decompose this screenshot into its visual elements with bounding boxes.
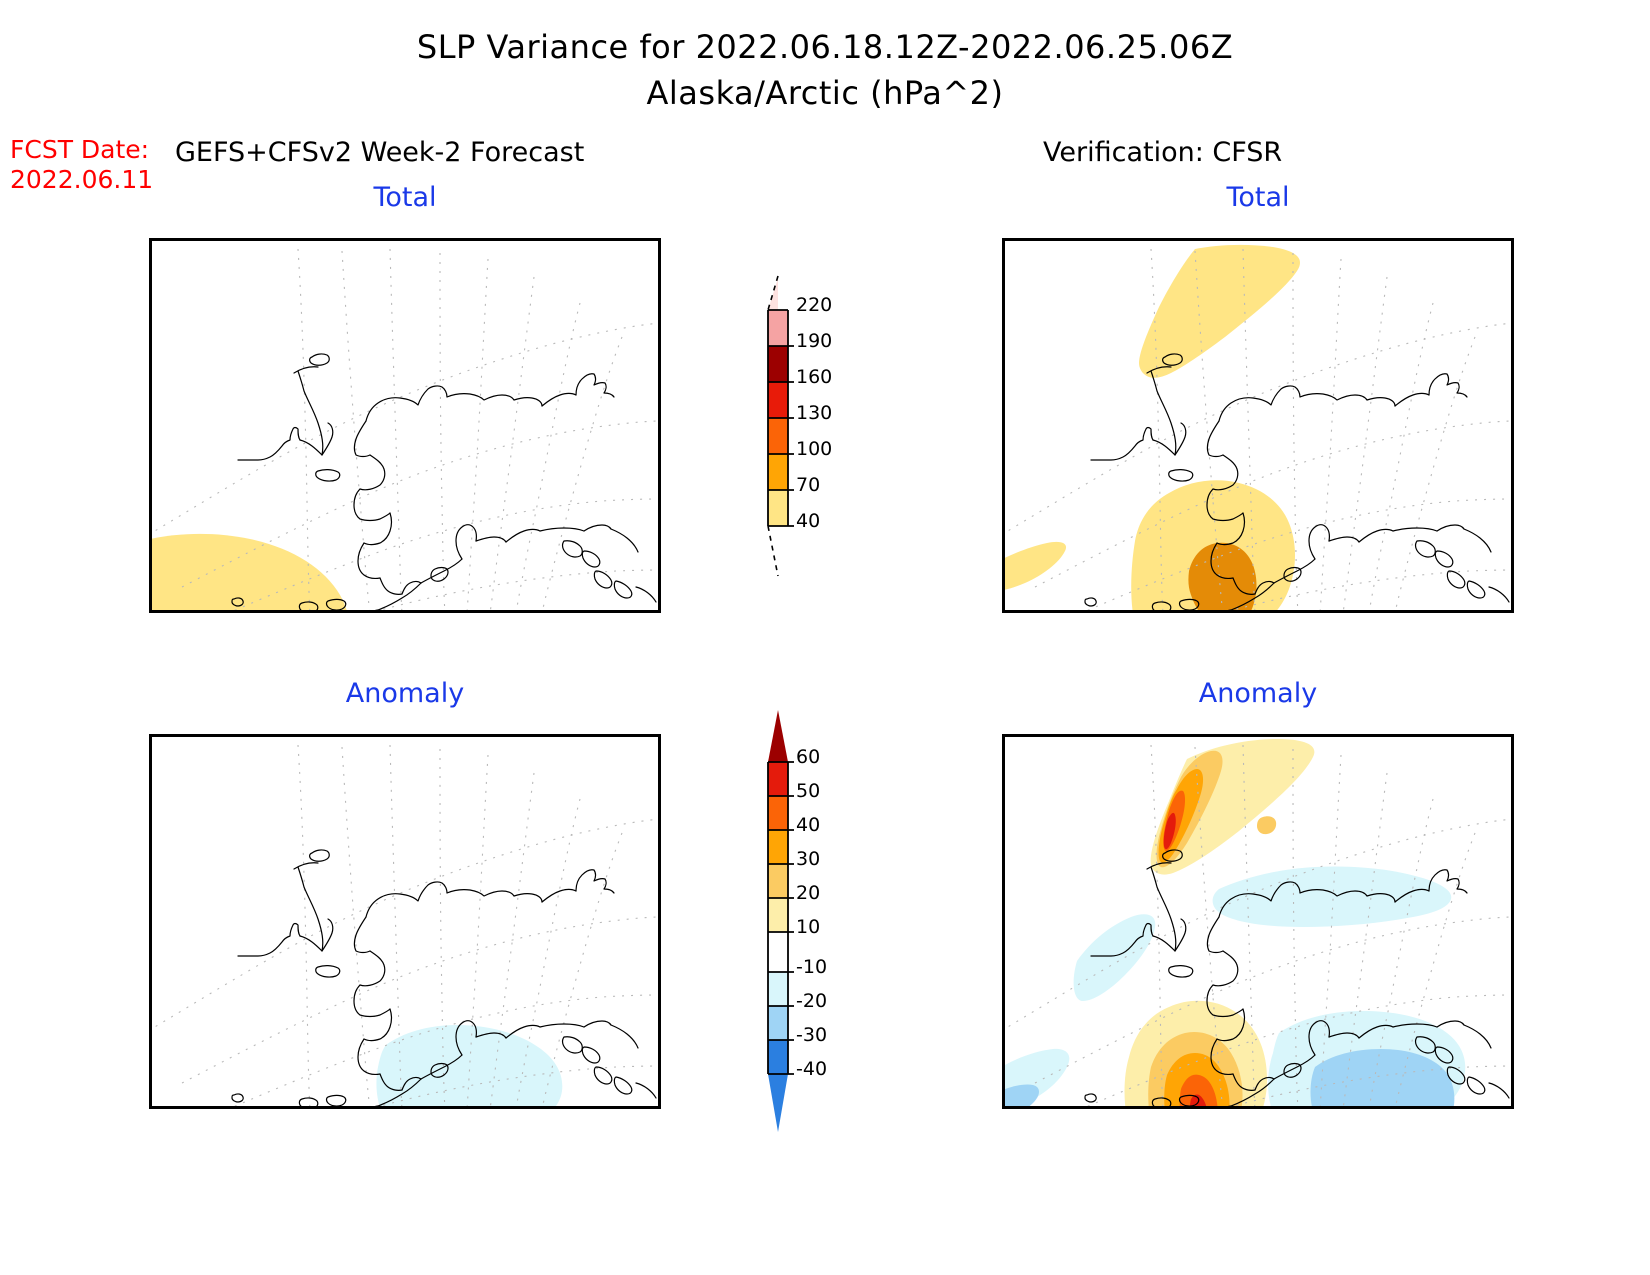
anomaly-colorbar[interactable]: 60 50 40 30 20 10 -10 -20 -30 -40 [744, 700, 854, 1150]
map-panel-forecast-anomaly[interactable] [149, 734, 661, 1109]
colorbar-total-tick-2: 160 [796, 366, 832, 388]
forecast-date-label: FCST Date: [10, 135, 153, 165]
map-panel-verification-total[interactable] [1002, 238, 1514, 613]
contour-region-40-70 [152, 534, 349, 610]
colorbar-anomaly-tick-3: 30 [796, 848, 820, 870]
colorbar-total-tick-4: 100 [796, 438, 832, 460]
colorbar-total-tick-6: 40 [796, 510, 820, 532]
map-svg-verification-total [1005, 241, 1511, 610]
colorbar-total-tick-1: 190 [796, 330, 832, 352]
colorbar-anomaly-tick-2: 40 [796, 814, 820, 836]
contour-region-neg10-neg20 [376, 1025, 562, 1106]
colorbar-anomaly-tick-7: -20 [796, 990, 827, 1012]
colorbar-anomaly-tick-9: -40 [796, 1058, 827, 1080]
contour-region-40-70-southwest [1005, 542, 1066, 591]
page-title-line2: Alaska/Arctic (hPa^2) [0, 74, 1650, 112]
colorbar-total-tick-3: 130 [796, 402, 832, 424]
colorbar-anomaly-tick-8: -30 [796, 1024, 827, 1046]
contour-region-neg10-northwest [1074, 914, 1156, 1001]
colorbar-anomaly-tick-6: -10 [796, 956, 827, 978]
panel-title-bottom-left: Anomaly [149, 678, 661, 709]
panel-title-top-right: Total [1002, 182, 1514, 213]
map-svg-forecast-anomaly [152, 737, 658, 1106]
colorbar-anomaly-tick-1: 50 [796, 780, 820, 802]
panel-title-bottom-right: Anomaly [1002, 678, 1514, 709]
colorbar-anomaly-tick-0: 60 [796, 746, 820, 768]
colorbar-total-tick-0: 220 [796, 294, 832, 316]
map-svg-verification-anomaly [1005, 737, 1511, 1106]
contour-region-neg20-southwest [1005, 1084, 1039, 1106]
map-panel-verification-anomaly[interactable] [1002, 734, 1514, 1109]
colorbar-anomaly-tick-5: 10 [796, 916, 820, 938]
triangle-up-icon [768, 710, 788, 762]
coastline [232, 850, 656, 1106]
right-column-header: Verification: CFSR [1043, 137, 1282, 168]
triangle-down-icon [768, 1074, 788, 1132]
total-variance-colorbar[interactable]: 220 190 160 130 100 70 40 [744, 262, 854, 592]
colorbar-anomaly-tick-4: 20 [796, 882, 820, 904]
left-column-header: GEFS+CFSv2 Week-2 Forecast [175, 137, 584, 168]
map-svg-forecast-total [152, 241, 658, 610]
map-panel-forecast-total[interactable] [149, 238, 661, 613]
page-title-line1: SLP Variance for 2022.06.18.12Z-2022.06.… [0, 28, 1650, 66]
colorbar-total-tick-5: 70 [796, 474, 820, 496]
contour-region-pos20-spot [1257, 816, 1276, 834]
forecast-date-value: 2022.06.11 [10, 165, 153, 195]
forecast-date-block: FCST Date: 2022.06.11 [10, 135, 153, 195]
panel-title-top-left: Total [149, 182, 661, 213]
